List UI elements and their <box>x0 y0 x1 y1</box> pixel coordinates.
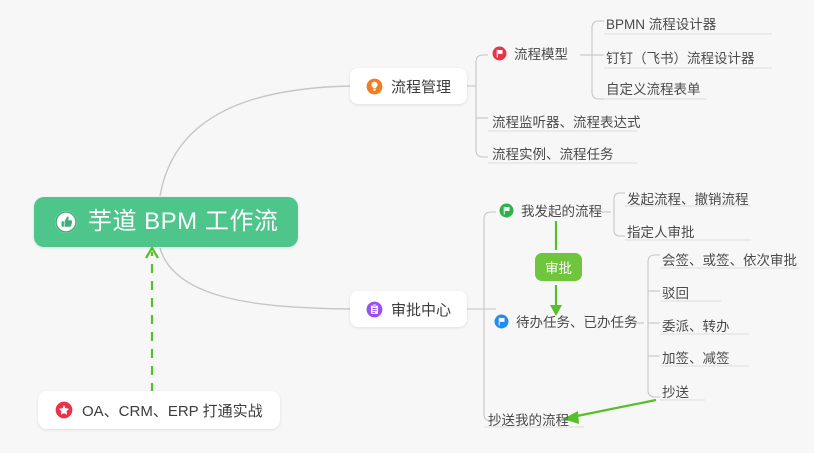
leaf-cc-to-me[interactable]: 抄送我的流程 <box>488 409 569 434</box>
leaf-start-cancel-process[interactable]: 发起流程、撤销流程 <box>627 188 749 213</box>
flag-icon-red <box>492 46 507 61</box>
leaf-label-countersign: 会签、或签、依次审批 <box>662 249 797 269</box>
leaf-reject[interactable]: 驳回 <box>662 282 689 307</box>
flag-icon-blue <box>494 314 509 329</box>
leaf-label-process-instance: 流程实例、流程任务 <box>492 143 614 163</box>
leaf-label-bpmn-designer: BPMN 流程设计器 <box>606 13 716 33</box>
leaf-custom-form[interactable]: 自定义流程表单 <box>606 78 701 103</box>
leaf-label-dingtalk-designer: 钉钉（飞书）流程设计器 <box>606 47 755 67</box>
leaf-label-process-model: 流程模型 <box>514 43 568 63</box>
lightbulb-icon <box>366 78 383 95</box>
leaf-label-todo-done: 待办任务、已办任务 <box>516 311 638 331</box>
leaf-cc[interactable]: 抄送 <box>662 381 689 406</box>
leaf-label-cc: 抄送 <box>662 381 689 401</box>
leaf-process-model[interactable]: 流程模型 <box>492 43 568 68</box>
leaf-label-my-started: 我发起的流程 <box>521 200 602 220</box>
branch-node-process-management[interactable]: 流程管理 <box>350 68 467 104</box>
root-label: 芋道 BPM 工作流 <box>88 210 278 234</box>
leaf-bpmn-designer[interactable]: BPMN 流程设计器 <box>606 13 716 38</box>
leaf-label-process-listener: 流程监听器、流程表达式 <box>492 111 641 131</box>
leaf-countersign[interactable]: 会签、或签、依次审批 <box>662 249 797 274</box>
leaf-add-remove-sign[interactable]: 加签、减签 <box>662 347 730 372</box>
leaf-label-cc-to-me: 抄送我的流程 <box>488 409 569 429</box>
leaf-dingtalk-designer[interactable]: 钉钉（飞书）流程设计器 <box>606 47 755 72</box>
leaf-label-custom-form: 自定义流程表单 <box>606 78 701 98</box>
side-card-integration[interactable]: OA、CRM、ERP 打通实战 <box>38 391 280 429</box>
flag-icon-green <box>499 203 514 218</box>
leaf-label-start-cancel-process: 发起流程、撤销流程 <box>627 188 749 208</box>
side-card-label: OA、CRM、ERP 打通实战 <box>82 400 263 421</box>
star-icon <box>55 401 73 419</box>
leaf-my-started[interactable]: 我发起的流程 <box>499 200 602 225</box>
branch-label-process-management: 流程管理 <box>391 76 451 97</box>
approval-pill-badge[interactable]: 审批 <box>535 253 582 281</box>
leaf-process-listener[interactable]: 流程监听器、流程表达式 <box>492 111 641 136</box>
branch-node-approval-center[interactable]: 审批中心 <box>350 291 467 327</box>
thumbs-up-icon <box>54 210 78 234</box>
leaf-label-add-remove-sign: 加签、减签 <box>662 347 730 367</box>
root-node[interactable]: 芋道 BPM 工作流 <box>34 197 298 247</box>
leaf-assignee-approval[interactable]: 指定人审批 <box>627 221 695 246</box>
approval-pill-label: 审批 <box>545 257 572 277</box>
leaf-label-assignee-approval: 指定人审批 <box>627 221 695 241</box>
branch-label-approval-center: 审批中心 <box>391 299 451 320</box>
mindmap-canvas: 芋道 BPM 工作流 流程管理 审批中心 <box>0 0 814 453</box>
leaf-delegate-transfer[interactable]: 委派、转办 <box>662 315 730 340</box>
leaf-label-reject: 驳回 <box>662 282 689 302</box>
leaf-process-instance[interactable]: 流程实例、流程任务 <box>492 143 614 168</box>
leaf-todo-done[interactable]: 待办任务、已办任务 <box>494 311 638 336</box>
leaf-label-delegate-transfer: 委派、转办 <box>662 315 730 335</box>
clipboard-icon <box>366 301 383 318</box>
